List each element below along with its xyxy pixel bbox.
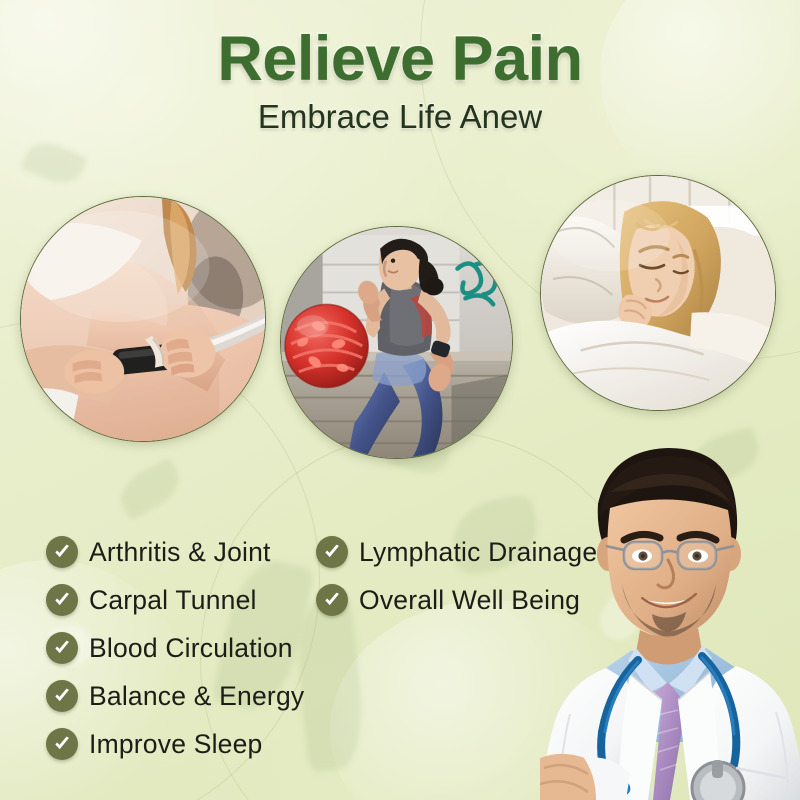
benefit-label: Arthritis & Joint [89,537,271,568]
background-leaf [20,135,88,191]
benefit-label: Blood Circulation [89,633,293,664]
benefit-label: Overall Well Being [359,585,580,616]
benefits-right-column: Lymphatic Drainage Overall Well Being [316,528,597,624]
benefit-row: Balance & Energy [46,672,304,720]
background-leaf [113,457,187,521]
benefit-row: Arthritis & Joint [46,528,304,576]
photo-woman-sleeping-in-bed [540,175,776,411]
benefit-row: Improve Sleep [46,720,304,768]
benefit-label: Carpal Tunnel [89,585,257,616]
benefit-label: Lymphatic Drainage [359,537,597,568]
benefit-row: Carpal Tunnel [46,576,304,624]
benefit-row: Lymphatic Drainage [316,528,597,576]
page-subtitle: Embrace Life Anew [0,98,800,136]
benefit-label: Improve Sleep [89,729,262,760]
photo-woman-running-with-massage-ball [280,226,513,459]
benefit-label: Balance & Energy [89,681,304,712]
check-icon [46,584,78,616]
check-icon [316,584,348,616]
benefit-row: Overall Well Being [316,576,597,624]
check-icon [316,536,348,568]
running-photo-icon [281,227,512,458]
massage-photo-icon [21,197,265,441]
promo-poster: Relieve Pain Embrace Life Anew [0,0,800,800]
sleeping-photo-icon [541,176,775,410]
benefits-left-column: Arthritis & Joint Carpal Tunnel Blood Ci… [46,528,304,768]
heading-block: Relieve Pain Embrace Life Anew [0,0,800,136]
check-icon [46,536,78,568]
benefit-row: Blood Circulation [46,624,304,672]
benefits-list: Arthritis & Joint Carpal Tunnel Blood Ci… [0,528,620,778]
check-icon [46,680,78,712]
check-icon [46,632,78,664]
check-icon [46,728,78,760]
page-title: Relieve Pain [0,26,800,92]
photo-massage-tool-on-leg [20,196,266,442]
